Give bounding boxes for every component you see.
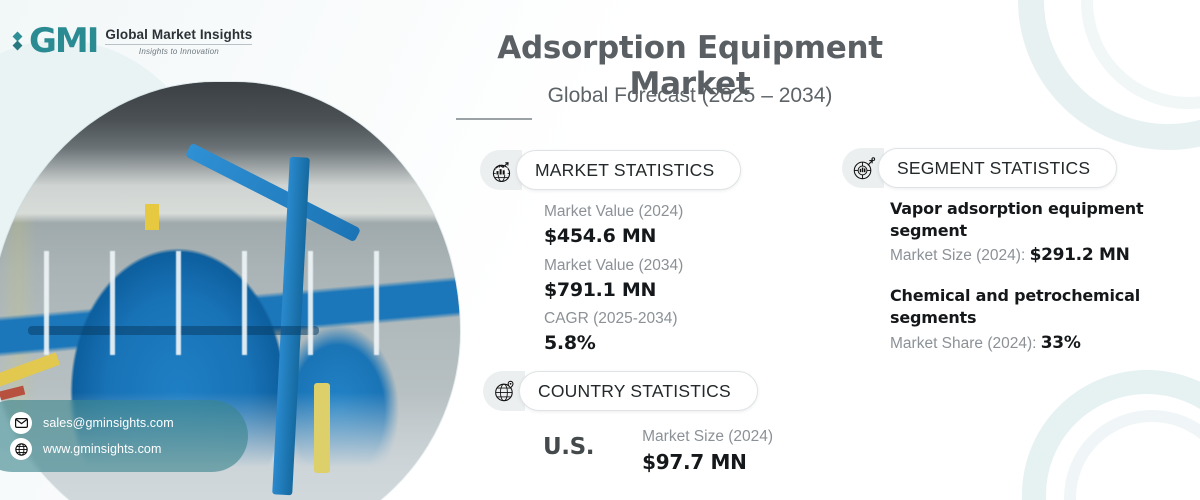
- contact-panel: sales@gminsights.com www.gminsights.com: [0, 400, 248, 472]
- country-metric: Market Size (2024) $97.7 MN: [642, 425, 773, 480]
- country-statistics-label: COUNTRY STATISTICS: [519, 371, 758, 411]
- logo-company-name: Global Market Insights: [105, 27, 252, 42]
- logo-diamond-mark-icon: [14, 33, 21, 49]
- cagr-value: 5.8%: [544, 331, 683, 357]
- market-statistics-values: Market Value (2024) $454.6 MN Market Val…: [544, 200, 683, 361]
- infographic-canvas: sales@gminsights.com www.gminsights.com …: [0, 0, 1200, 500]
- segment-2-metric-value: 33%: [1041, 333, 1081, 353]
- country-market-size-value: $97.7 MN: [642, 449, 773, 476]
- segment-2-metric-label: Market Share (2024):: [890, 335, 1041, 352]
- country-name: U.S.: [543, 425, 594, 460]
- segment-statistics-values: Vapor adsorption equipment segment Marke…: [890, 198, 1160, 373]
- contact-website-row[interactable]: www.gminsights.com: [10, 438, 248, 460]
- contact-email-text: sales@gminsights.com: [43, 416, 174, 430]
- contact-website-text: www.gminsights.com: [43, 442, 162, 456]
- market-value-2034-label: Market Value (2034): [544, 254, 683, 278]
- page-subtitle: Global Forecast (2025 – 2034): [455, 84, 925, 108]
- segment-statistics-pill: SEGMENT STATISTICS: [842, 148, 1117, 188]
- market-value-2024-label: Market Value (2024): [544, 200, 683, 224]
- globe-icon: [10, 438, 32, 460]
- photo-yellow-pipe-left: [0, 352, 60, 388]
- country-statistics-values: U.S. Market Size (2024) $97.7 MN: [543, 425, 773, 480]
- market-statistics-pill: MARKET STATISTICS: [480, 150, 741, 190]
- photo-yellow-fitting: [145, 204, 159, 230]
- photo-diagonal-beam: [185, 143, 361, 243]
- segment-1-metric-value: $291.2 MN: [1030, 245, 1130, 265]
- segment-1-metric-label: Market Size (2024):: [890, 247, 1030, 264]
- photo-vertical-beam: [273, 157, 311, 496]
- logo-tagline: Insights to Innovation: [105, 47, 252, 56]
- segment-1-metric: Market Size (2024): $291.2 MN: [890, 242, 1160, 269]
- market-value-2034-value: $791.1 MN: [544, 278, 683, 304]
- brand-logo[interactable]: GMI Global Market Insights Insights to I…: [14, 24, 252, 58]
- logo-divider: [105, 44, 252, 45]
- contact-email-row[interactable]: sales@gminsights.com: [10, 412, 248, 434]
- envelope-icon: [10, 412, 32, 434]
- country-market-size-label: Market Size (2024): [642, 425, 773, 449]
- segment-2-title: Chemical and petrochemical segments: [890, 285, 1160, 329]
- country-statistics-pill: COUNTRY STATISTICS: [483, 371, 758, 411]
- logo-gmi-wordmark: GMI: [29, 24, 97, 58]
- photo-vessel-band: [28, 326, 319, 335]
- cagr-label: CAGR (2025-2034): [544, 307, 683, 331]
- photo-yellow-pipe-right: [314, 383, 330, 473]
- segment-1-title: Vapor adsorption equipment segment: [890, 198, 1160, 242]
- segment-statistics-label: SEGMENT STATISTICS: [878, 148, 1117, 188]
- logo-text-block: Global Market Insights Insights to Innov…: [105, 27, 252, 56]
- market-value-2024-value: $454.6 MN: [544, 224, 683, 250]
- market-statistics-label: MARKET STATISTICS: [516, 150, 741, 190]
- header-divider: [456, 118, 532, 120]
- segment-2-metric: Market Share (2024): 33%: [890, 330, 1160, 357]
